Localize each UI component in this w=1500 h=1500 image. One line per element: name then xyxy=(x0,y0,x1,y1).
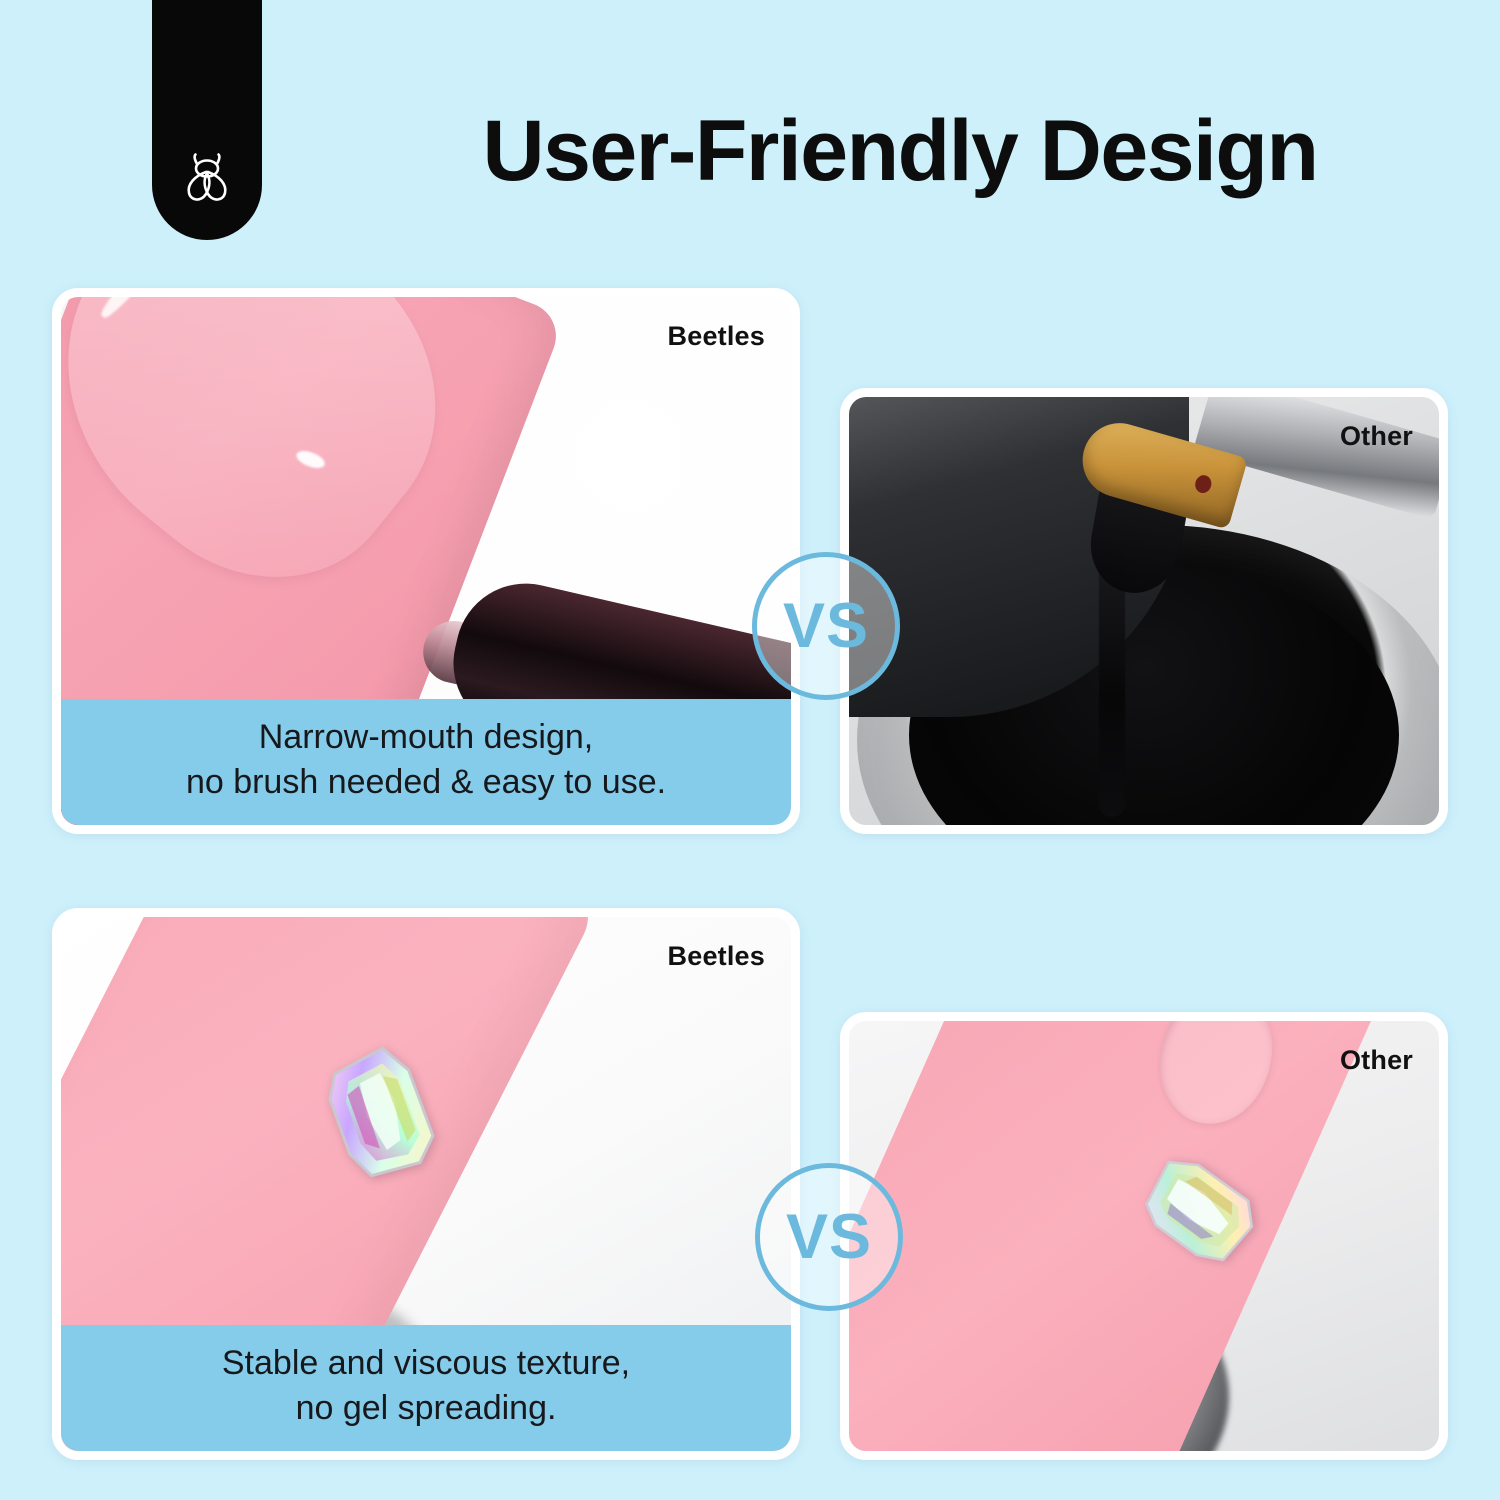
other-product-photo-1 xyxy=(849,397,1439,825)
caption-line-2a: Stable and viscous texture, xyxy=(61,1341,791,1386)
panel-tag-other-2: Other xyxy=(1340,1045,1413,1076)
comparison-2-other-panel: Other xyxy=(840,1012,1448,1460)
comparison-1-brand-panel: Beetles Narrow-mouth design, no brush ne… xyxy=(52,288,800,834)
panel-tag-beetles-2: Beetles xyxy=(668,941,765,972)
other-product-photo-2 xyxy=(849,1021,1439,1451)
vs-badge-1: VS xyxy=(752,552,900,700)
caption-line-2b: no gel spreading. xyxy=(61,1386,791,1431)
vs-badge-2: VS xyxy=(755,1163,903,1311)
caption-bar-1: Narrow-mouth design, no brush needed & e… xyxy=(61,699,791,825)
brand-tab xyxy=(152,0,262,240)
caption-line-1b: no brush needed & easy to use. xyxy=(61,760,791,805)
panel-tag-other-1: Other xyxy=(1340,421,1413,452)
panel-tag-beetles-1: Beetles xyxy=(668,321,765,352)
beetle-logo-icon xyxy=(175,146,239,210)
caption-line-1a: Narrow-mouth design, xyxy=(61,715,791,760)
caption-bar-2: Stable and viscous texture, no gel sprea… xyxy=(61,1325,791,1451)
comparison-2-brand-panel: Beetles Stable and viscous texture, no g… xyxy=(52,908,800,1460)
comparison-1-other-panel: Other xyxy=(840,388,1448,834)
page-title: User-Friendly Design xyxy=(380,108,1420,194)
